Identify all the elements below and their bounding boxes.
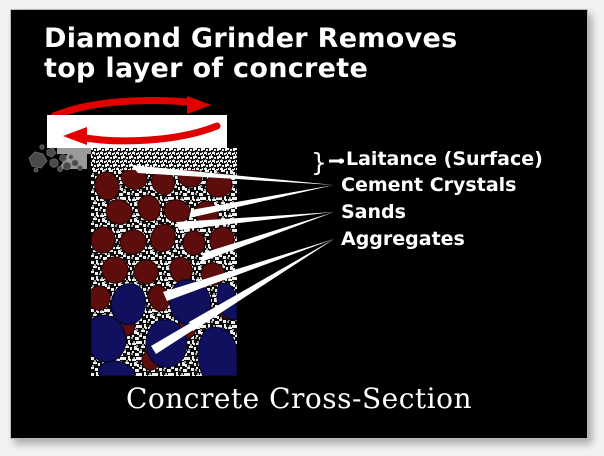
callout-label-aggregates: Aggregates [341, 229, 465, 249]
illustration-canvas: Diamond Grinder Removes top layer of con… [11, 10, 587, 438]
figure-caption: Concrete Cross-Section [11, 382, 587, 415]
callout-label-laitance: Laitance (Surface) [346, 149, 543, 169]
callout-label-cement-crystals: Cement Crystals [341, 175, 516, 195]
motion-arrow-left-icon [57, 122, 221, 146]
concrete-dust-debris [23, 144, 89, 178]
figure-frame: Diamond Grinder Removes top layer of con… [0, 0, 604, 456]
concrete-cross-section [91, 148, 237, 376]
laitance-texture [91, 148, 237, 170]
callout-label-sands: Sands [341, 202, 406, 222]
page-title: Diamond Grinder Removes top layer of con… [44, 24, 584, 84]
laitance-brace: } [311, 150, 327, 175]
concrete-texture [91, 148, 237, 376]
laitance-surface-layer [91, 148, 237, 170]
